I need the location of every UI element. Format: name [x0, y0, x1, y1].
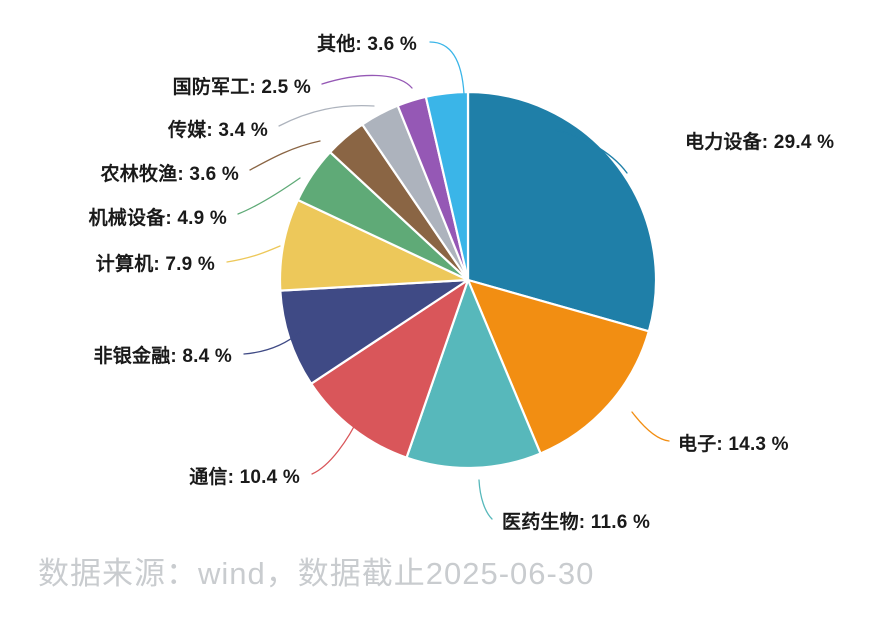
- leader-line: [322, 75, 412, 88]
- slice-label: 其他: 3.6 %: [317, 32, 417, 55]
- pie-chart-svg: 电力设备: 29.4 %电子: 14.3 %医药生物: 11.6 %通信: 10…: [0, 0, 873, 623]
- leader-line: [279, 106, 374, 126]
- slice-label: 传媒: 3.4 %: [167, 118, 268, 141]
- leader-line: [430, 42, 464, 94]
- slice-label: 非银金融: 8.4 %: [94, 344, 232, 367]
- leader-line: [632, 412, 669, 441]
- slice-label: 电力设备: 29.4 %: [685, 130, 834, 153]
- slice-label: 计算机: 7.9 %: [96, 252, 215, 275]
- slice-label: 医药生物: 11.6 %: [502, 510, 650, 533]
- slice-label: 国防军工: 2.5 %: [173, 75, 311, 98]
- leader-line: [250, 141, 320, 170]
- leader-line: [479, 480, 492, 519]
- slice-label: 通信: 10.4 %: [189, 465, 300, 488]
- slice-label: 电子: 14.3 %: [678, 432, 789, 455]
- pie-chart-figure: 电力设备: 29.4 %电子: 14.3 %医药生物: 11.6 %通信: 10…: [0, 0, 873, 623]
- leader-line: [238, 178, 300, 214]
- slice-label: 机械设备: 4.9 %: [89, 206, 227, 229]
- slice-label: 农林牧渔: 3.6 %: [100, 162, 239, 185]
- data-source-footnote: 数据来源：wind，数据截止2025-06-30: [38, 548, 594, 593]
- leader-line: [227, 246, 280, 262]
